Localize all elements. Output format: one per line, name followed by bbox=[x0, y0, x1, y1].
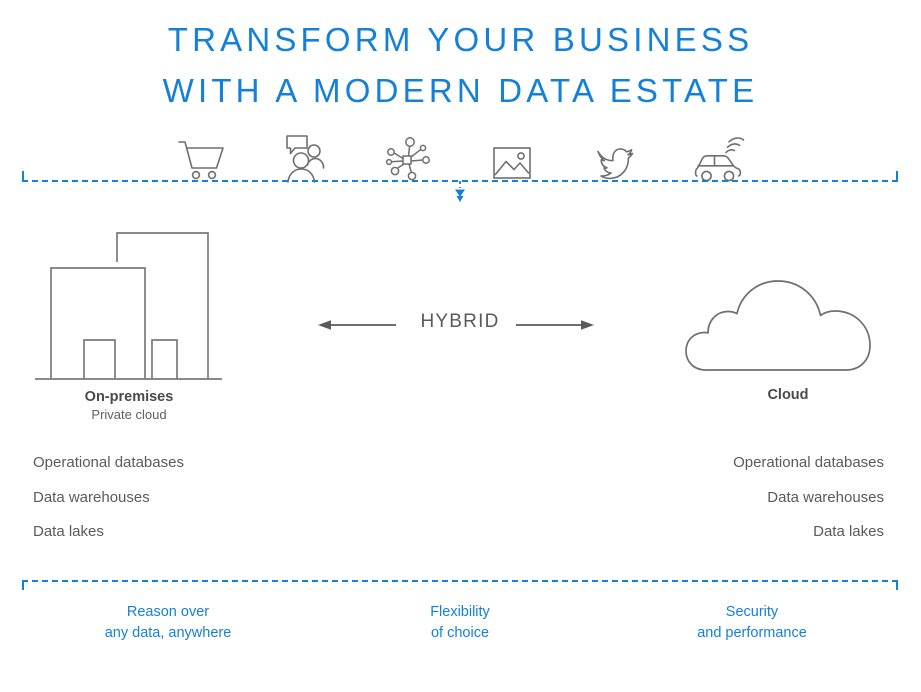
bottom-dashed-divider bbox=[22, 580, 898, 582]
benefit-line-2: and performance bbox=[606, 623, 898, 644]
bottom-divider-left-tick bbox=[22, 581, 24, 590]
benefit-line-2: of choice bbox=[314, 623, 606, 644]
list-item: Data lakes bbox=[33, 515, 184, 550]
benefit-flexibility-of-choice: Flexibility of choice bbox=[314, 602, 606, 644]
on-premises-title: On-premises bbox=[44, 388, 214, 406]
cloud-title: Cloud bbox=[708, 386, 868, 404]
social-people-chat-icon bbox=[274, 134, 336, 184]
twitter-bird-icon bbox=[584, 134, 646, 184]
image-photo-icon bbox=[481, 134, 543, 184]
list-item: Data lakes bbox=[733, 515, 884, 550]
benefit-reason-over-any-data: Reason over any data, anywhere bbox=[22, 602, 314, 644]
cloud-capability-list: Operational databases Data warehouses Da… bbox=[733, 446, 884, 550]
on-premises-capability-list: Operational databases Data warehouses Da… bbox=[33, 446, 184, 550]
page-title-line-2: WITH A MODERN DATA ESTATE bbox=[0, 65, 921, 116]
on-premises-caption: On-premises Private cloud bbox=[44, 388, 214, 423]
list-item: Data warehouses bbox=[733, 481, 884, 516]
page-title: TRANSFORM YOUR BUSINESS WITH A MODERN DA… bbox=[0, 14, 921, 116]
list-item: Operational databases bbox=[733, 446, 884, 481]
bottom-divider-right-tick bbox=[896, 581, 898, 590]
benefits-row: Reason over any data, anywhere Flexibili… bbox=[22, 602, 898, 644]
down-arrow-icon bbox=[445, 181, 475, 207]
top-divider-right-tick bbox=[896, 171, 898, 180]
cloud-illustration bbox=[684, 252, 894, 382]
benefit-line-2: any data, anywhere bbox=[22, 623, 314, 644]
benefit-line-1: Flexibility bbox=[314, 602, 606, 623]
list-item: Data warehouses bbox=[33, 481, 184, 516]
top-divider-left-tick bbox=[22, 171, 24, 180]
on-premises-buildings-illustration bbox=[34, 226, 224, 391]
network-graph-icon bbox=[377, 134, 439, 184]
page-title-line-1: TRANSFORM YOUR BUSINESS bbox=[0, 14, 921, 65]
cloud-caption: Cloud bbox=[708, 386, 868, 404]
data-source-icon-row bbox=[170, 134, 750, 184]
shopping-cart-icon bbox=[170, 134, 232, 184]
connected-car-icon bbox=[688, 134, 750, 184]
list-item: Operational databases bbox=[33, 446, 184, 481]
benefit-line-1: Reason over bbox=[22, 602, 314, 623]
hybrid-label: HYBRID bbox=[395, 311, 525, 333]
benefit-security-and-performance: Security and performance bbox=[606, 602, 898, 644]
benefit-line-1: Security bbox=[606, 602, 898, 623]
on-premises-subtitle: Private cloud bbox=[44, 406, 214, 423]
